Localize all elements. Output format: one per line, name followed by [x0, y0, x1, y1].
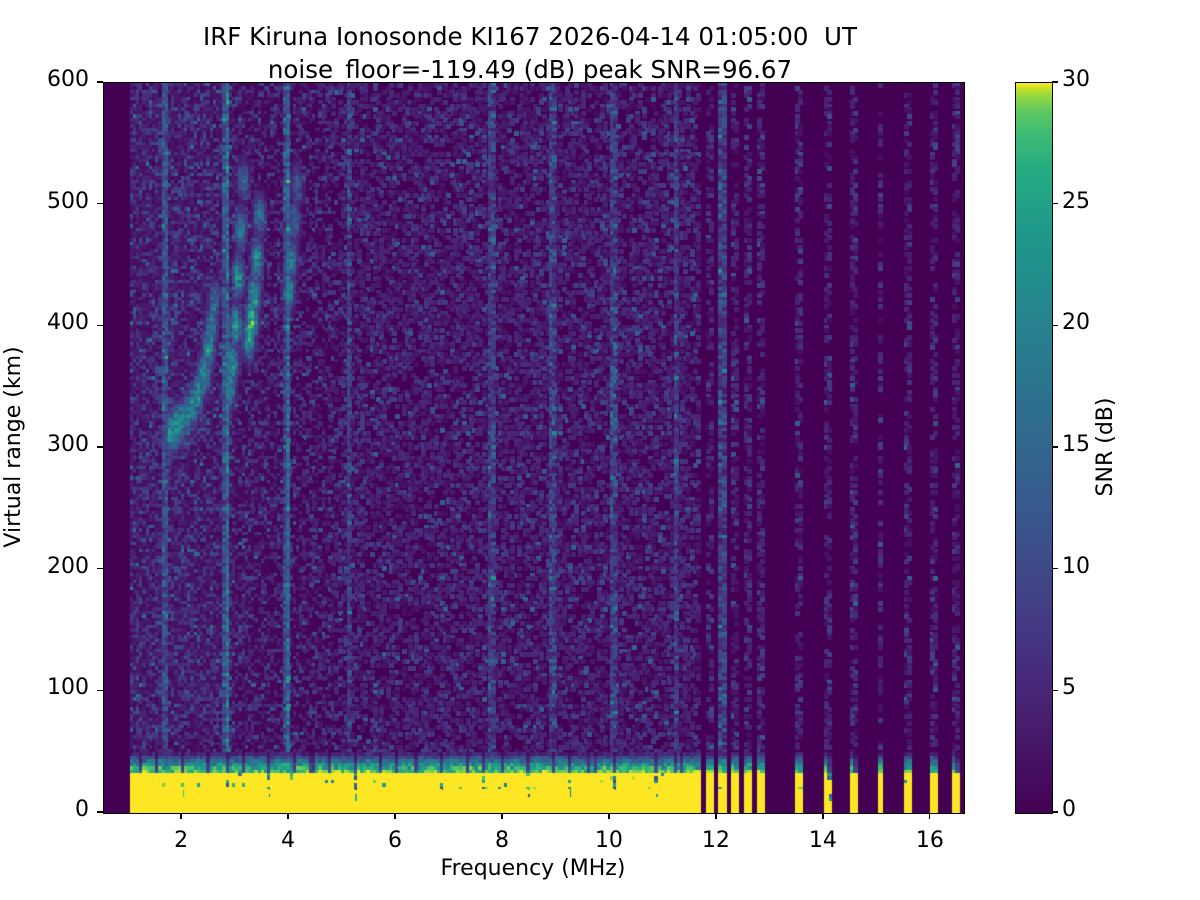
colorbar-tick-mark: [1052, 203, 1058, 204]
colorbar-tick-label: 30: [1062, 67, 1090, 92]
ionogram-axes: [103, 82, 965, 814]
figure-title-line1: IRF Kiruna Ionosonde KI167 2026-04-14 01…: [0, 20, 1060, 53]
x-tick-label: 16: [890, 828, 970, 853]
y-tick-label: 100: [0, 675, 89, 700]
y-tick-mark: [97, 446, 103, 447]
y-tick-label: 600: [0, 67, 89, 92]
colorbar-tick-mark: [1052, 446, 1058, 447]
x-tick-mark: [608, 813, 609, 819]
colorbar-tick-label: 5: [1062, 675, 1076, 700]
y-tick-label: 200: [0, 554, 89, 579]
colorbar-tick-label: 10: [1062, 554, 1090, 579]
colorbar-label: SNR (dB): [1093, 398, 1118, 497]
colorbar-tick-label: 25: [1062, 189, 1090, 214]
x-tick-label: 6: [355, 828, 435, 853]
x-tick-mark: [394, 813, 395, 819]
x-tick-mark: [715, 813, 716, 819]
x-tick-label: 2: [141, 828, 221, 853]
y-tick-label: 500: [0, 189, 89, 214]
colorbar-tick-label: 20: [1062, 310, 1090, 335]
x-axis-label: Frequency (MHz): [0, 856, 1066, 881]
colorbar-tick-mark: [1052, 81, 1058, 82]
ionogram-heatmap: [104, 83, 964, 813]
x-tick-label: 4: [248, 828, 328, 853]
ionogram-figure: IRF Kiruna Ionosonde KI167 2026-04-14 01…: [0, 0, 1200, 900]
colorbar-tick-label: 0: [1062, 797, 1076, 822]
x-tick-mark: [501, 813, 502, 819]
x-tick-label: 14: [783, 828, 863, 853]
x-tick-mark: [287, 813, 288, 819]
x-tick-mark: [180, 813, 181, 819]
y-tick-mark: [97, 81, 103, 82]
y-tick-mark: [97, 325, 103, 326]
colorbar-tick-mark: [1052, 811, 1058, 812]
y-tick-label: 0: [0, 797, 89, 822]
colorbar-gradient: [1015, 82, 1053, 814]
x-tick-label: 8: [462, 828, 542, 853]
y-tick-mark: [97, 690, 103, 691]
figure-title: IRF Kiruna Ionosonde KI167 2026-04-14 01…: [0, 20, 1060, 86]
colorbar-tick-label: 15: [1062, 432, 1090, 457]
y-tick-label: 300: [0, 432, 89, 457]
x-tick-mark: [929, 813, 930, 819]
x-tick-mark: [822, 813, 823, 819]
y-tick-mark: [97, 811, 103, 812]
y-tick-label: 400: [0, 310, 89, 335]
x-tick-label: 12: [676, 828, 756, 853]
colorbar-tick-mark: [1052, 690, 1058, 691]
x-tick-label: 10: [569, 828, 649, 853]
y-tick-mark: [97, 203, 103, 204]
y-tick-mark: [97, 568, 103, 569]
colorbar-tick-mark: [1052, 568, 1058, 569]
colorbar-tick-mark: [1052, 325, 1058, 326]
